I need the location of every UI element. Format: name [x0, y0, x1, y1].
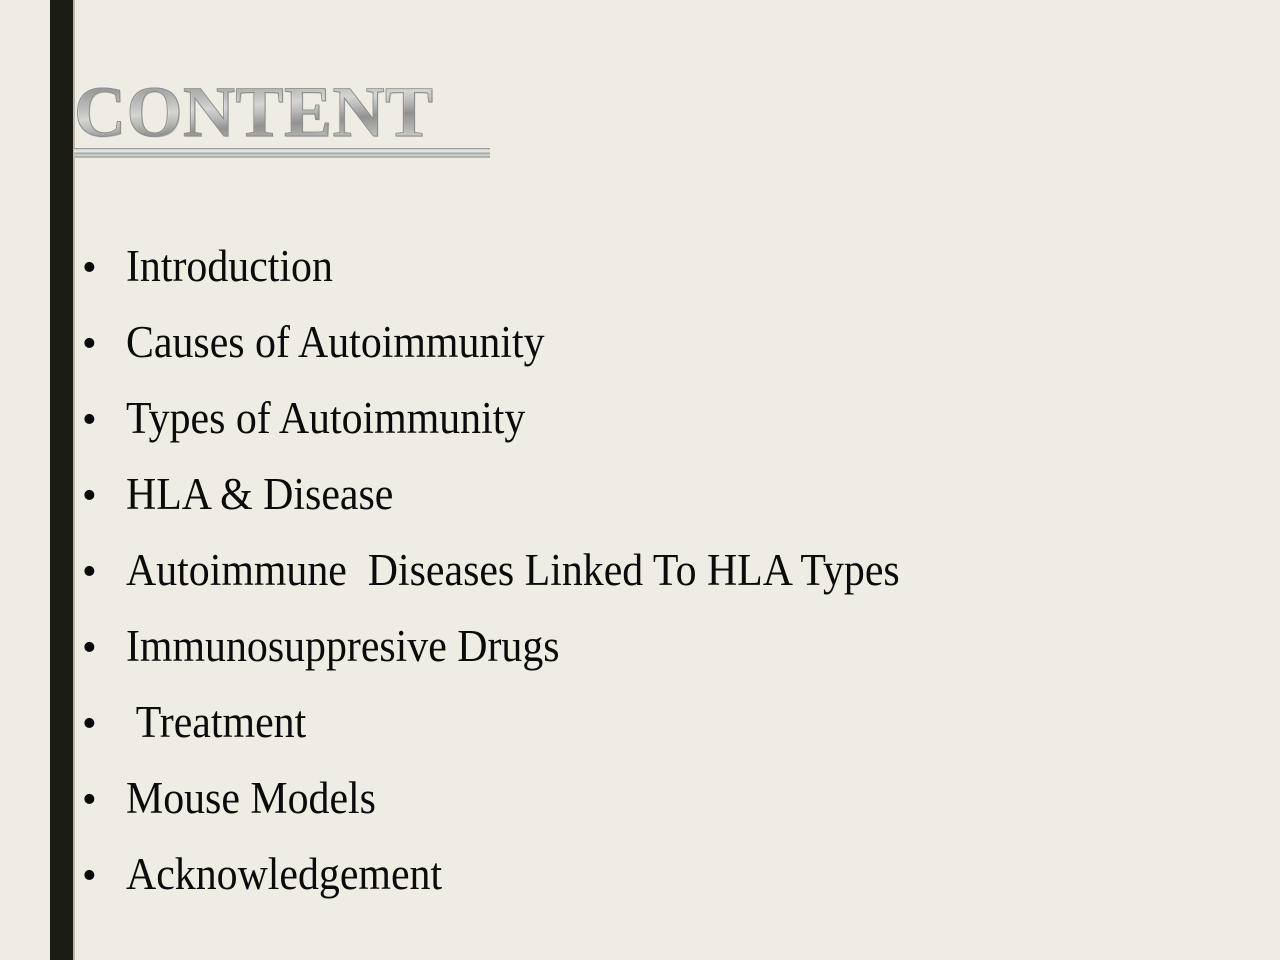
list-item[interactable]: • Treatment — [74, 684, 1234, 760]
bullet-dot-icon: • — [74, 686, 126, 762]
list-item[interactable]: • Autoimmune Diseases Linked To HLA Type… — [74, 532, 1234, 608]
list-item[interactable]: • Immunosuppresive Drugs — [74, 608, 1234, 684]
left-accent-bar — [50, 0, 73, 960]
list-item-label: Autoimmune Diseases Linked To HLA Types — [126, 532, 1156, 608]
list-item-label: Mouse Models — [126, 760, 1156, 836]
list-item-label: Immunosuppresive Drugs — [126, 608, 1156, 684]
list-item[interactable]: • HLA & Disease — [74, 456, 1234, 532]
bullet-dot-icon: • — [74, 458, 126, 534]
list-item-label: Introduction — [126, 228, 1156, 304]
page-title: CONTENT — [74, 74, 504, 150]
title-underline-rule — [74, 148, 490, 158]
list-item-label: HLA & Disease — [126, 456, 1156, 532]
bullet-dot-icon: • — [74, 534, 126, 610]
list-item-label: Types of Autoimmunity — [126, 380, 1156, 456]
list-item-label: Treatment — [126, 684, 1156, 760]
list-item[interactable]: • Introduction — [74, 228, 1234, 304]
bullet-dot-icon: • — [74, 838, 126, 914]
content-bullet-list: • Introduction • Causes of Autoimmunity … — [74, 228, 1234, 912]
bullet-dot-icon: • — [74, 230, 126, 306]
presentation-slide: CONTENT • Introduction • Causes of Autoi… — [0, 0, 1280, 960]
list-item[interactable]: • Acknowledgement — [74, 836, 1234, 912]
title-block: CONTENT — [74, 74, 504, 150]
bullet-dot-icon: • — [74, 610, 126, 686]
list-item-label: Causes of Autoimmunity — [126, 304, 1156, 380]
list-item[interactable]: • Causes of Autoimmunity — [74, 304, 1234, 380]
list-item[interactable]: • Mouse Models — [74, 760, 1234, 836]
bullet-dot-icon: • — [74, 306, 126, 382]
list-item-label: Acknowledgement — [126, 836, 1156, 912]
list-item[interactable]: • Types of Autoimmunity — [74, 380, 1234, 456]
bullet-dot-icon: • — [74, 382, 126, 458]
bullet-dot-icon: • — [74, 762, 126, 838]
